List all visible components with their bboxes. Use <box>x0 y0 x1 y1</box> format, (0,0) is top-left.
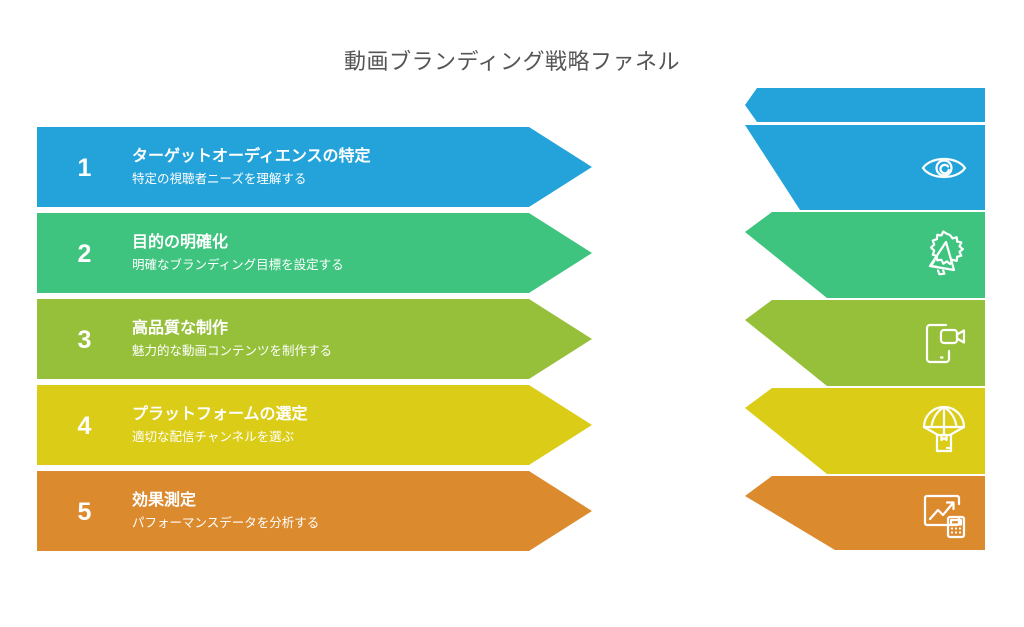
funnel-step-3[interactable]: 3 高品質な制作 魅力的な動画コンテンツを制作する <box>37 299 592 379</box>
funnel-steps-list: 1 ターゲットオーディエンスの特定 特定の視聴者ニーズを理解する 2 目的の明確… <box>37 127 592 547</box>
chart-calculator-icon <box>919 490 969 540</box>
step-subtitle: 魅力的な動画コンテンツを制作する <box>132 344 522 360</box>
funnel-step-5[interactable]: 5 効果測定 パフォーマンスデータを分析する <box>37 471 592 551</box>
step-title: 目的の明確化 <box>132 233 522 253</box>
step-title: プラットフォームの選定 <box>132 405 522 425</box>
smartphone-video-icon <box>919 318 969 368</box>
step-title: ターゲットオーディエンスの特定 <box>132 147 522 167</box>
megaphone-icon <box>919 230 969 280</box>
funnel-band-1[interactable] <box>745 125 985 210</box>
step-title: 効果測定 <box>132 491 522 511</box>
funnel-step-2[interactable]: 2 目的の明確化 明確なブランディング目標を設定する <box>37 213 592 293</box>
step-subtitle: 特定の視聴者ニーズを理解する <box>132 172 522 188</box>
step-text-block: 効果測定 パフォーマンスデータを分析する <box>132 491 592 532</box>
step-text-block: ターゲットオーディエンスの特定 特定の視聴者ニーズを理解する <box>132 147 592 188</box>
step-subtitle: 明確なブランディング目標を設定する <box>132 258 522 274</box>
step-title: 高品質な制作 <box>132 319 522 339</box>
funnel-band-5[interactable] <box>745 476 985 550</box>
step-number: 5 <box>37 498 132 525</box>
page-title: 動画ブランディング戦略ファネル <box>0 44 1024 76</box>
eye-icon <box>919 143 969 193</box>
step-number: 3 <box>37 326 132 353</box>
funnel-band-2[interactable] <box>745 212 985 298</box>
funnel-band-3[interactable] <box>745 300 985 386</box>
step-text-block: 高品質な制作 魅力的な動画コンテンツを制作する <box>132 319 592 360</box>
step-number: 1 <box>37 154 132 181</box>
funnel-band-cap <box>745 88 985 122</box>
step-text-block: プラットフォームの選定 適切な配信チャンネルを選ぶ <box>132 405 592 446</box>
parachute-box-icon <box>919 406 969 456</box>
step-text-block: 目的の明確化 明確なブランディング目標を設定する <box>132 233 592 274</box>
step-subtitle: パフォーマンスデータを分析する <box>132 516 522 532</box>
funnel-band-4[interactable] <box>745 388 985 474</box>
funnel-step-4[interactable]: 4 プラットフォームの選定 適切な配信チャンネルを選ぶ <box>37 385 592 465</box>
funnel-step-1[interactable]: 1 ターゲットオーディエンスの特定 特定の視聴者ニーズを理解する <box>37 127 592 207</box>
step-number: 4 <box>37 412 132 439</box>
step-subtitle: 適切な配信チャンネルを選ぶ <box>132 430 522 446</box>
funnel-diagram <box>745 88 985 550</box>
step-number: 2 <box>37 240 132 267</box>
